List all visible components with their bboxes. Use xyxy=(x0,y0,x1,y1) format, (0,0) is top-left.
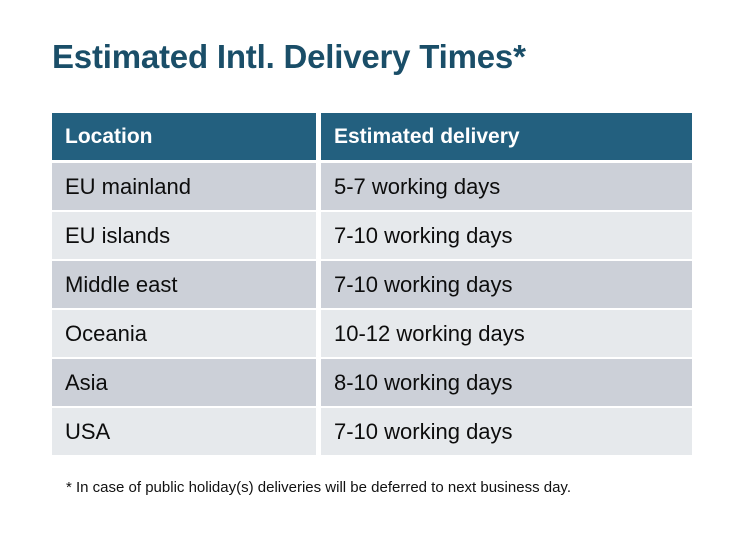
footnote-text: * In case of public holiday(s) deliverie… xyxy=(66,478,571,498)
delivery-times-panel: Estimated Intl. Delivery Times* Location… xyxy=(0,0,745,536)
cell-location: Middle east xyxy=(52,261,316,308)
cell-estimated-delivery: 10-12 working days xyxy=(321,310,692,357)
table-row: Middle east 7-10 working days xyxy=(52,261,692,308)
table-row: EU islands 7-10 working days xyxy=(52,212,692,259)
table-row: Asia 8-10 working days xyxy=(52,359,692,406)
cell-location: Asia xyxy=(52,359,316,406)
delivery-times-table: Location Estimated delivery EU mainland … xyxy=(52,113,692,455)
table-row: EU mainland 5-7 working days xyxy=(52,163,692,210)
column-header-estimated-delivery: Estimated delivery xyxy=(321,113,692,160)
cell-estimated-delivery: 5-7 working days xyxy=(321,163,692,210)
cell-estimated-delivery: 7-10 working days xyxy=(321,408,692,455)
table-row: Oceania 10-12 working days xyxy=(52,310,692,357)
cell-estimated-delivery: 8-10 working days xyxy=(321,359,692,406)
table-row: USA 7-10 working days xyxy=(52,408,692,455)
page-title: Estimated Intl. Delivery Times* xyxy=(52,36,526,78)
cell-location: USA xyxy=(52,408,316,455)
cell-location: EU mainland xyxy=(52,163,316,210)
cell-estimated-delivery: 7-10 working days xyxy=(321,261,692,308)
cell-estimated-delivery: 7-10 working days xyxy=(321,212,692,259)
cell-location: Oceania xyxy=(52,310,316,357)
column-header-location: Location xyxy=(52,113,316,160)
table-header-row: Location Estimated delivery xyxy=(52,113,692,160)
cell-location: EU islands xyxy=(52,212,316,259)
